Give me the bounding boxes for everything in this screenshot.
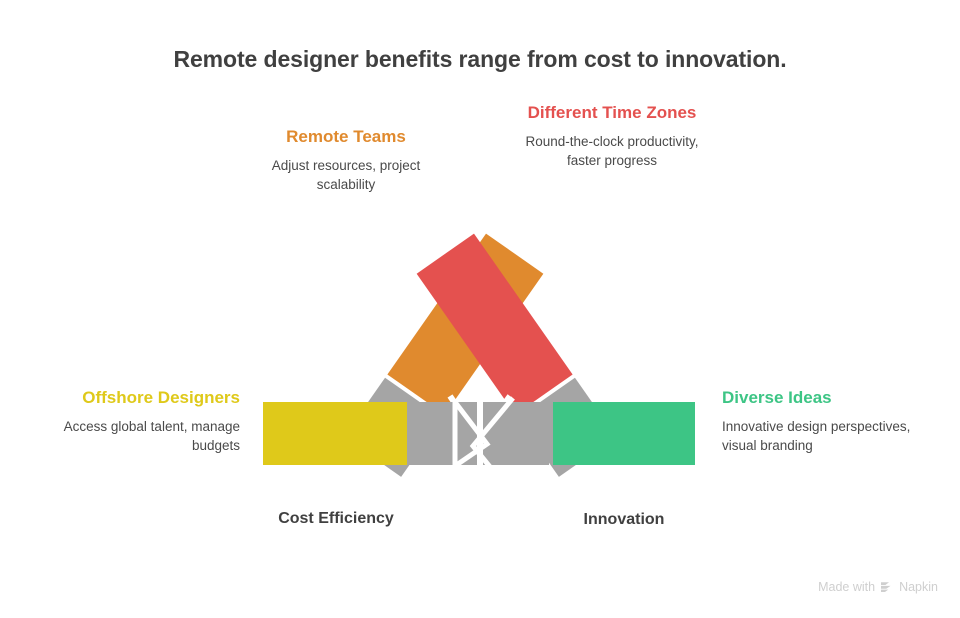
label-title-remote-teams: Remote Teams [246,126,446,148]
axis-caption-cost-efficiency: Cost Efficiency [236,510,436,528]
label-desc-remote-teams: Adjust resources, project scalability [246,157,446,194]
watermark-brand-name: Napkin [899,580,938,594]
axis-caption-innovation: Innovation [524,511,724,529]
segment-offshore-designers-yellow [263,402,407,465]
label-block-diverse-ideas: Diverse Ideas Innovative design perspect… [722,387,912,455]
watermark-made-with-text: Made with [818,580,875,594]
napkin-watermark: Made with Napkin [818,580,938,594]
label-title-different-time-zones: Different Time Zones [510,102,714,124]
chevron-arrow-svg [255,220,705,475]
label-title-diverse-ideas: Diverse Ideas [722,387,912,409]
napkin-chevron-logo-icon [880,580,894,594]
label-desc-diverse-ideas: Innovative design perspectives, visual b… [722,418,912,455]
label-desc-different-time-zones: Round-the-clock productivity, faster pro… [510,133,714,170]
infographic-canvas: Remote designer benefits range from cost… [0,0,960,618]
segment-diverse-ideas-green [553,402,695,465]
label-block-offshore-designers: Offshore Designers Access global talent,… [24,387,240,455]
chevron-arrow-graphic [255,220,705,475]
label-title-offshore-designers: Offshore Designers [24,387,240,409]
label-block-remote-teams: Remote Teams Adjust resources, project s… [246,126,446,194]
page-title: Remote designer benefits range from cost… [0,46,960,73]
segment-gray-base-right [483,402,549,465]
label-block-different-time-zones: Different Time Zones Round-the-clock pro… [510,102,714,170]
label-desc-offshore-designers: Access global talent, manage budgets [24,418,240,455]
